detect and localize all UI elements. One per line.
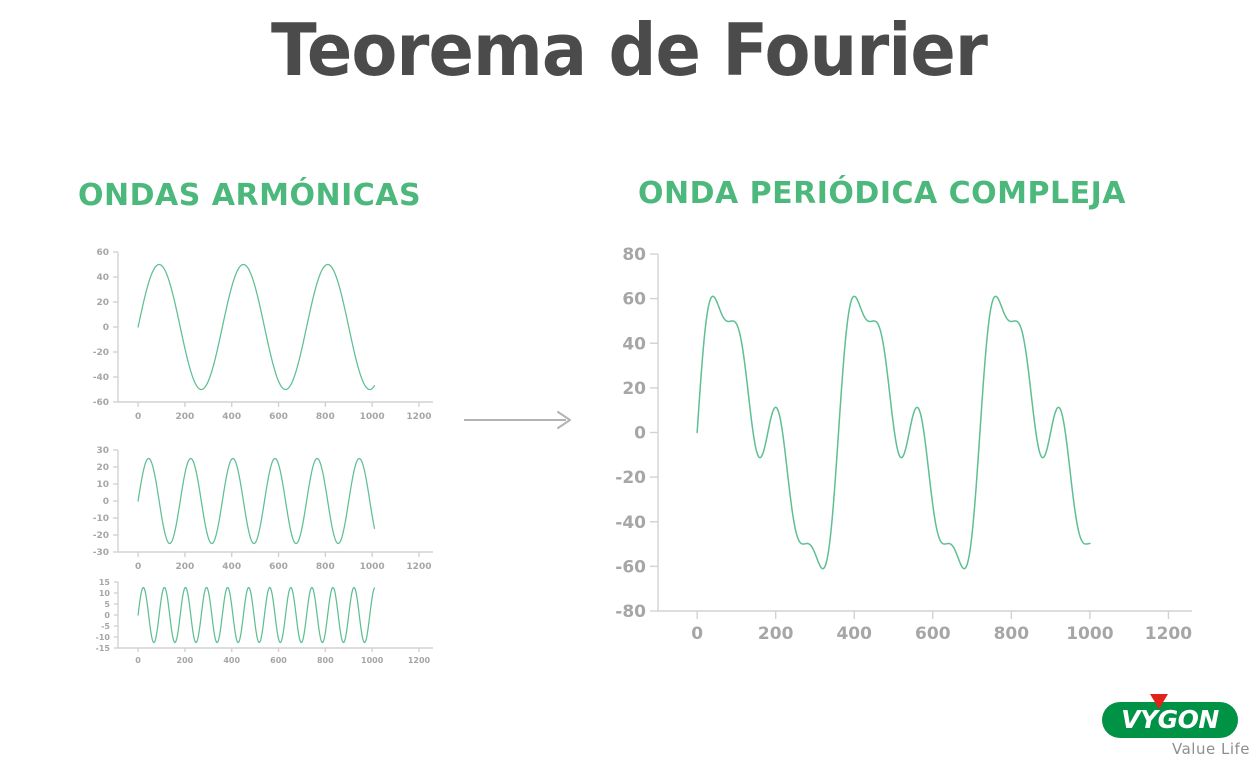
chart-harmonic-3: 151050-5-10-15020040060080010001200: [62, 578, 437, 678]
svg-text:800: 800: [317, 656, 334, 665]
svg-text:400: 400: [836, 624, 872, 644]
svg-text:0: 0: [135, 412, 141, 422]
svg-text:0: 0: [135, 562, 141, 572]
svg-text:1000: 1000: [1066, 624, 1113, 644]
svg-text:0: 0: [135, 656, 141, 665]
chart-composite-wave: 806040200-20-40-60-800200400600800100012…: [588, 244, 1198, 669]
svg-text:30: 30: [96, 446, 109, 456]
svg-text:-5: -5: [101, 622, 110, 631]
svg-text:800: 800: [994, 624, 1030, 644]
slide-canvas: Teorema de Fourier ONDAS ARMÓNICAS ONDA …: [0, 0, 1258, 761]
svg-text:200: 200: [176, 562, 195, 572]
svg-text:60: 60: [622, 290, 646, 310]
svg-text:600: 600: [269, 562, 288, 572]
right-arrow-icon: [462, 408, 577, 432]
svg-text:60: 60: [96, 248, 109, 258]
svg-text:-20: -20: [93, 531, 109, 541]
svg-text:-60: -60: [615, 557, 646, 577]
svg-text:1200: 1200: [406, 412, 431, 422]
svg-text:1000: 1000: [361, 656, 384, 665]
svg-text:0: 0: [691, 624, 703, 644]
svg-text:20: 20: [96, 463, 109, 473]
logo-tagline: Value Life: [1102, 740, 1250, 758]
svg-text:40: 40: [96, 273, 109, 283]
svg-text:0: 0: [634, 424, 646, 444]
chart-harmonic-1: 6040200-20-40-60020040060080010001200: [62, 244, 437, 436]
vygon-logo: VYGON Value Life: [1102, 694, 1250, 758]
svg-text:200: 200: [758, 624, 794, 644]
chart-composite-wave-svg: 806040200-20-40-60-800200400600800100012…: [588, 244, 1198, 669]
svg-text:1200: 1200: [1145, 624, 1192, 644]
svg-text:-40: -40: [93, 373, 109, 383]
svg-text:-20: -20: [93, 348, 109, 358]
svg-text:400: 400: [223, 656, 240, 665]
page-title: Teorema de Fourier: [44, 8, 1214, 92]
svg-text:200: 200: [176, 412, 195, 422]
svg-text:20: 20: [622, 379, 646, 399]
svg-text:10: 10: [96, 480, 109, 490]
svg-text:600: 600: [269, 412, 288, 422]
svg-text:10: 10: [99, 589, 111, 598]
svg-text:600: 600: [270, 656, 287, 665]
svg-text:400: 400: [222, 562, 241, 572]
chart-harmonic-2-svg: 3020100-10-20-30020040060080010001200: [62, 444, 437, 584]
svg-text:-80: -80: [615, 602, 646, 622]
svg-text:-20: -20: [615, 468, 646, 488]
svg-text:400: 400: [222, 412, 241, 422]
svg-text:1200: 1200: [406, 562, 431, 572]
chart-harmonic-3-svg: 151050-5-10-15020040060080010001200: [62, 578, 437, 678]
svg-text:-30: -30: [93, 548, 109, 558]
svg-text:800: 800: [316, 412, 335, 422]
svg-text:40: 40: [622, 334, 646, 354]
svg-text:80: 80: [622, 245, 646, 265]
logo-wordmark: VYGON: [1102, 702, 1238, 738]
svg-text:1200: 1200: [408, 656, 431, 665]
svg-text:-15: -15: [96, 644, 111, 653]
section-heading-complex-periodic-wave: ONDA PERIÓDICA COMPLEJA: [638, 176, 1126, 211]
chart-harmonic-1-svg: 6040200-20-40-60020040060080010001200: [62, 244, 437, 436]
svg-text:800: 800: [316, 562, 335, 572]
svg-text:-10: -10: [93, 514, 109, 524]
svg-text:600: 600: [915, 624, 951, 644]
svg-text:-40: -40: [615, 513, 646, 533]
chart-harmonic-2: 3020100-10-20-30020040060080010001200: [62, 444, 437, 584]
svg-text:0: 0: [103, 497, 109, 507]
svg-text:-10: -10: [96, 633, 111, 642]
svg-text:0: 0: [104, 611, 110, 620]
svg-text:200: 200: [177, 656, 194, 665]
svg-text:20: 20: [96, 298, 109, 308]
svg-text:1000: 1000: [360, 562, 385, 572]
section-heading-harmonic-waves: ONDAS ARMÓNICAS: [78, 178, 421, 213]
svg-text:1000: 1000: [360, 412, 385, 422]
svg-text:0: 0: [103, 323, 109, 333]
svg-text:-60: -60: [93, 398, 109, 408]
svg-text:15: 15: [99, 578, 111, 587]
svg-text:5: 5: [104, 600, 110, 609]
